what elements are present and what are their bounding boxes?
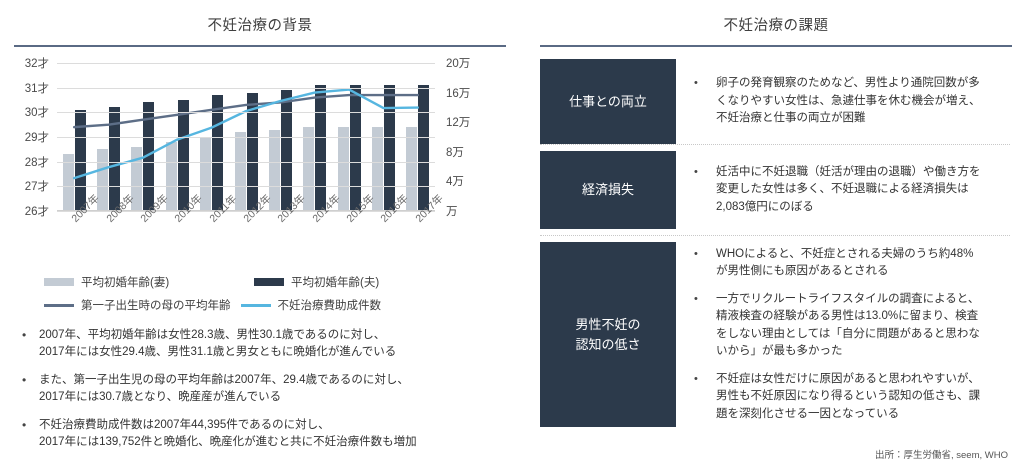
chart-y-axis-label-right: 20万 bbox=[446, 55, 470, 71]
left-title-rule bbox=[14, 45, 506, 47]
chart-gridline bbox=[57, 162, 435, 163]
legend-label-wife: 平均初婚年齢(妻) bbox=[81, 274, 169, 290]
bullet-text: 一方でリクルートライフスタイルの調査によると、 精液検査の経験がある男性は13.… bbox=[716, 291, 980, 361]
bullet-glyph: • bbox=[694, 371, 716, 424]
chart-y-axis-label-right: 16万 bbox=[446, 85, 470, 101]
bullet-glyph: • bbox=[22, 327, 39, 361]
bullet-text: 不妊症は女性だけに原因があると思われやすいが、 男性も不妊原因になり得るという認… bbox=[716, 371, 980, 424]
legend-swatch-wife bbox=[44, 278, 74, 286]
legend-label-subsidy: 不妊治療費助成件数 bbox=[278, 297, 382, 313]
bullet-glyph: • bbox=[694, 164, 716, 217]
list-item: • 2007年、平均初婚年齢は女性28.3歳、男性30.1歳であるのに対し、 2… bbox=[22, 327, 492, 361]
chart-gridline bbox=[57, 137, 435, 138]
chart-line-subsidy bbox=[74, 90, 418, 179]
bullet-text: また、第一子出生児の母の平均年齢は2007年、29.4歳であるのに対し、 201… bbox=[39, 372, 409, 406]
list-item: • 不妊症は女性だけに原因があると思われやすいが、 男性も不妊原因になり得るとい… bbox=[694, 371, 1010, 424]
bullet-text: 不妊治療費助成件数は2007年44,395件であるのに対し、 2017年には13… bbox=[39, 417, 417, 451]
card-separator bbox=[540, 235, 1010, 236]
legend-row-bars: 平均初婚年齢(妻) 平均初婚年齢(夫) bbox=[44, 274, 464, 290]
legend-swatch-mother-age bbox=[44, 304, 74, 307]
issue-card-body: • 妊活中に不妊退職（妊活が理由の退職）や働き方を 変更した女性は多く、不妊退職… bbox=[676, 151, 1010, 229]
bullet-glyph: • bbox=[22, 372, 39, 406]
chart-legend: 平均初婚年齢(妻) 平均初婚年齢(夫) 第一子出生時の母の平均年齢 不妊治療費助… bbox=[44, 274, 464, 313]
legend-item-subsidy: 不妊治療費助成件数 bbox=[241, 297, 382, 313]
bullet-text: 2007年、平均初婚年齢は女性28.3歳、男性30.1歳であるのに対し、 201… bbox=[39, 327, 396, 361]
legend-item-mother-age: 第一子出生時の母の平均年齢 bbox=[44, 297, 231, 313]
bullet-glyph: • bbox=[694, 246, 716, 281]
bullet-text: 妊活中に不妊退職（妊活が理由の退職）や働き方を 変更した女性は多く、不妊退職によ… bbox=[716, 164, 981, 217]
legend-label-husband: 平均初婚年齢(夫) bbox=[291, 274, 379, 290]
issue-card-list: 仕事との両立 • 卵子の発育観察のためなど、男性より通院回数が多 くなりやすい女… bbox=[528, 59, 1024, 427]
legend-label-mother-age: 第一子出生時の母の平均年齢 bbox=[81, 297, 231, 313]
chart-y-axis-label-left: 32才 bbox=[25, 55, 49, 71]
legend-item-husband: 平均初婚年齢(夫) bbox=[254, 274, 379, 290]
bullet-glyph: • bbox=[694, 75, 716, 128]
legend-row-lines: 第一子出生時の母の平均年齢 不妊治療費助成件数 bbox=[44, 297, 464, 313]
legend-swatch-husband bbox=[254, 278, 284, 286]
chart-y-axis-label-left: 30才 bbox=[25, 104, 49, 120]
list-item: • また、第一子出生児の母の平均年齢は2007年、29.4歳であるのに対し、 2… bbox=[22, 372, 492, 406]
legend-swatch-subsidy bbox=[241, 304, 271, 307]
right-panel-title: 不妊治療の課題 bbox=[528, 0, 1024, 35]
issue-card-label: 男性不妊の 認知の低さ bbox=[540, 242, 676, 427]
right-title-rule bbox=[540, 45, 1012, 47]
chart-y-axis-label-left: 31才 bbox=[25, 80, 49, 96]
issue-card-label: 経済損失 bbox=[540, 151, 676, 229]
left-panel-title: 不妊治療の背景 bbox=[0, 0, 520, 35]
chart-y-axis-label-right: 8万 bbox=[446, 144, 464, 160]
legend-item-wife: 平均初婚年齢(妻) bbox=[44, 274, 254, 290]
issue-card-label: 仕事との両立 bbox=[540, 59, 676, 144]
bullet-text: WHOによると、不妊症とされる夫婦のうち約48% が男性側にも原因があるとされる bbox=[716, 246, 973, 281]
left-bullet-list: • 2007年、平均初婚年齢は女性28.3歳、男性30.1歳であるのに対し、 2… bbox=[22, 327, 492, 451]
chart-y-axis-label-right: 12万 bbox=[446, 114, 470, 130]
list-item: • WHOによると、不妊症とされる夫婦のうち約48% が男性側にも原因があるとさ… bbox=[694, 246, 1010, 281]
chart-y-axis-label-left: 29才 bbox=[25, 129, 49, 145]
issue-card-body: • 卵子の発育観察のためなど、男性より通院回数が多 くなりやすい女性は、急遽仕事… bbox=[676, 59, 1010, 144]
issue-card-body: • WHOによると、不妊症とされる夫婦のうち約48% が男性側にも原因があるとさ… bbox=[676, 242, 1010, 427]
slide: 不妊治療の背景 26才27才28才29才30才31才32才万4万8万12万16万… bbox=[0, 0, 1024, 470]
panel-background: 不妊治療の背景 26才27才28才29才30才31才32才万4万8万12万16万… bbox=[0, 0, 520, 470]
list-item: • 一方でリクルートライフスタイルの調査によると、 精液検査の経験がある男性は1… bbox=[694, 291, 1010, 361]
list-item: • 卵子の発育観察のためなど、男性より通院回数が多 くなりやすい女性は、急遽仕事… bbox=[694, 75, 1010, 128]
chart-gridline bbox=[57, 63, 435, 64]
source-note: 出所：厚生労働省, seem, WHO bbox=[875, 447, 1008, 461]
chart-gridline bbox=[57, 88, 435, 89]
chart-gridline bbox=[57, 186, 435, 187]
list-item: • 妊活中に不妊退職（妊活が理由の退職）や働き方を 変更した女性は多く、不妊退職… bbox=[694, 164, 1010, 217]
issue-card-work-balance: 仕事との両立 • 卵子の発育観察のためなど、男性より通院回数が多 くなりやすい女… bbox=[528, 59, 1024, 144]
issue-card-economic-loss: 経済損失 • 妊活中に不妊退職（妊活が理由の退職）や働き方を 変更した女性は多く… bbox=[528, 151, 1024, 229]
chart-gridline bbox=[57, 112, 435, 113]
bullet-glyph: • bbox=[22, 417, 39, 451]
chart-y-axis-label-left: 27才 bbox=[25, 178, 49, 194]
right-panel: 不妊治療の課題 仕事との両立 • 卵子の発育観察のためなど、男性より通院回数が多… bbox=[528, 0, 1024, 470]
issue-card-male-infertility: 男性不妊の 認知の低さ • WHOによると、不妊症とされる夫婦のうち約48% が… bbox=[528, 242, 1024, 427]
bullet-text: 卵子の発育観察のためなど、男性より通院回数が多 くなりやすい女性は、急遽仕事を休… bbox=[716, 75, 981, 128]
chart-y-axis-label-left: 26才 bbox=[25, 203, 49, 219]
chart-y-axis-label-left: 28才 bbox=[25, 154, 49, 170]
chart-y-axis-label-right: 4万 bbox=[446, 173, 464, 189]
list-item: • 不妊治療費助成件数は2007年44,395件であるのに対し、 2017年には… bbox=[22, 417, 492, 451]
chart-plot-area: 26才27才28才29才30才31才32才万4万8万12万16万20万2007年… bbox=[57, 63, 435, 211]
chart-y-axis-label-right: 万 bbox=[446, 203, 458, 219]
chart-container: 26才27才28才29才30才31才32才万4万8万12万16万20万2007年… bbox=[0, 53, 520, 268]
bullet-glyph: • bbox=[694, 291, 716, 361]
card-separator bbox=[540, 144, 1010, 145]
